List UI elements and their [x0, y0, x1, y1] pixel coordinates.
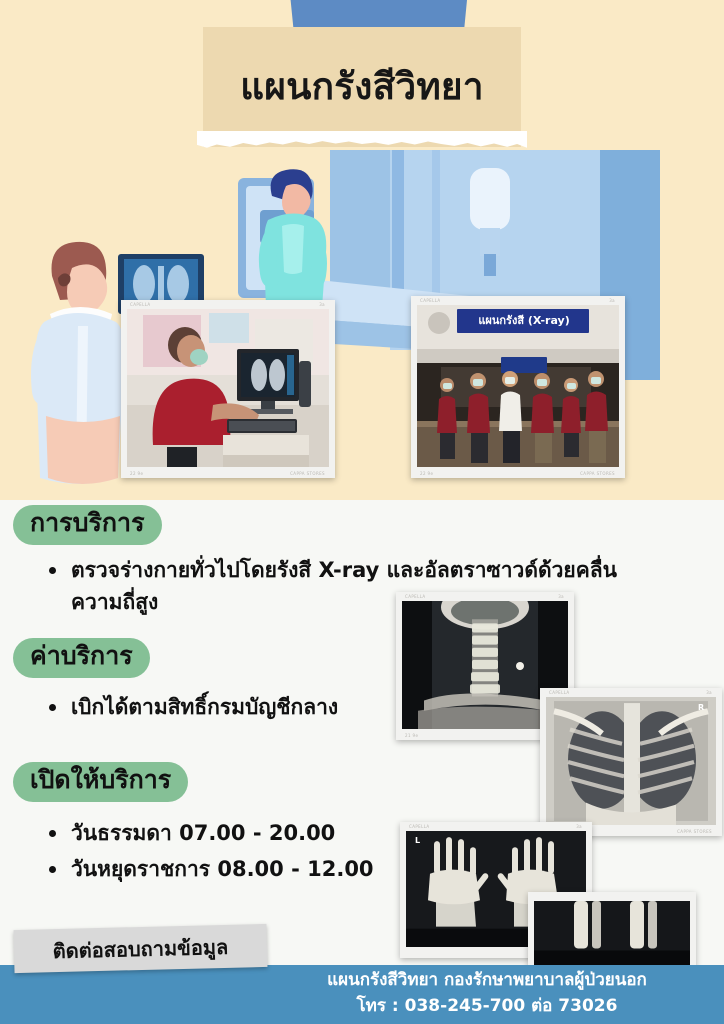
badge-service-label: การบริการ [13, 505, 162, 545]
section-heading-fee: ค่าบริการ [13, 638, 150, 678]
photo-team[interactable]: CAPELLA 3a 22 9e CAPPA STORES [411, 296, 625, 478]
xray-marker-r: R [698, 703, 704, 712]
photo-caption-tr: 3a [609, 298, 615, 303]
photo-caption-br: CAPPA STORES [677, 829, 712, 834]
photo-caption-tl: CAPELLA [409, 824, 430, 829]
photo-caption-tr: 3a [576, 824, 582, 829]
list-item: วันธรรมดา 07.00 - 20.00 [38, 818, 458, 850]
badge-fee-label: ค่าบริการ [13, 638, 150, 678]
contact-banner: ติดต่อสอบถามข้อมูล [14, 924, 268, 973]
badge-hours-label: เปิดให้บริการ [13, 762, 188, 802]
fee-list: เบิกได้ตามสิทธิ์กรมบัญชีกลาง [38, 692, 458, 728]
photo-caption-tl: CAPELLA [405, 594, 426, 599]
photo-caption-br: CAPPA STORES [580, 471, 615, 476]
photo-caption-br: CAPPA STORES [290, 471, 325, 476]
doctor-figure [31, 242, 129, 484]
photo-caption-tr: 3a [558, 594, 564, 599]
list-item: เบิกได้ตามสิทธิ์กรมบัญชีกลาง [38, 692, 458, 724]
service-list: ตรวจร่างกายทั่วไปโดยรังสี X-ray และอัลตร… [38, 555, 678, 622]
photo-team-sign-text: แผนกรังสี (X-ray) [457, 308, 590, 332]
hours-list: วันธรรมดา 07.00 - 20.00 วันหยุดราชการ 08… [38, 818, 458, 889]
photo-caption-bl: 22 9e [420, 471, 433, 476]
list-item: วันหยุดราชการ 08.00 - 12.00 [38, 854, 458, 886]
footer-contact-info: แผนกรังสีวิทยา กองรักษาพยาบาลผู้ป่วยนอก … [250, 967, 724, 1020]
contact-banner-label: ติดต่อสอบถามข้อมูล [14, 924, 268, 973]
footer-phone-line: โทร : 038-245-700 ต่อ 73026 [250, 993, 724, 1019]
photo-caption-bl: 22 9e [130, 471, 143, 476]
photo-caption-tl: CAPELLA [130, 302, 151, 307]
photo-caption-tr: 3a [319, 302, 325, 307]
section-heading-hours: เปิดให้บริการ [13, 762, 188, 802]
poster-root: แผนกรังสีวิทยา CAPELLA 3a 22 9e CAPPA ST… [0, 0, 724, 1024]
photo-caption-tr: 3a [706, 690, 712, 695]
section-heading-service: การบริการ [13, 505, 162, 545]
page-title: แผนกรังสีวิทยา [203, 27, 521, 145]
list-item: ตรวจร่างกายทั่วไปโดยรังสี X-ray และอัลตร… [38, 555, 671, 618]
photo-caption-tl: CAPELLA [549, 690, 570, 695]
xray-marker-l: L [415, 836, 420, 845]
footer-department-line: แผนกรังสีวิทยา กองรักษาพยาบาลผู้ป่วยนอก [250, 967, 724, 993]
photo-operator[interactable]: CAPELLA 3a 22 9e CAPPA STORES [121, 300, 335, 478]
photo-caption-tl: CAPELLA [420, 298, 441, 303]
photo-xray-chest[interactable]: CAPELLA 3a CAPPA STORES R [540, 688, 722, 836]
photo-caption-bl: 21 9e [405, 733, 418, 738]
